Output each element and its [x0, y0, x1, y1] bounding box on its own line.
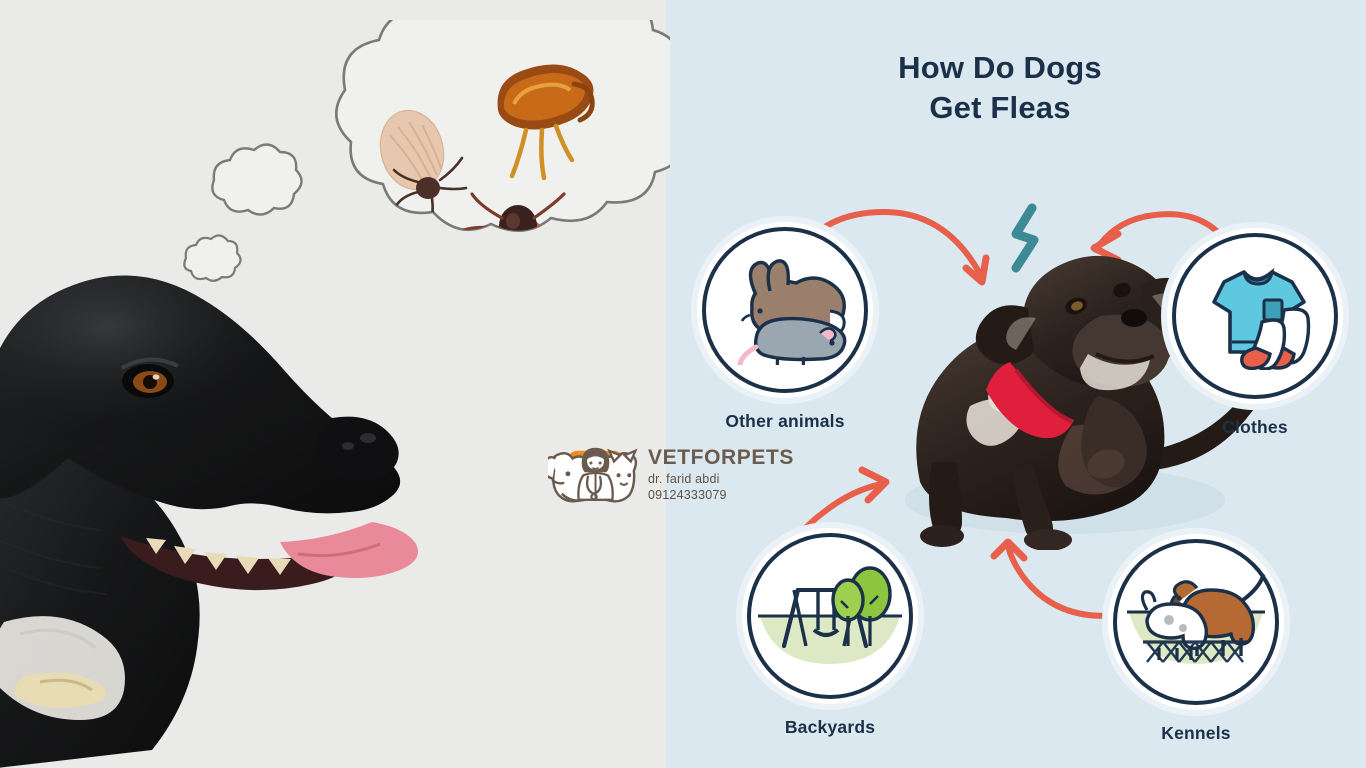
two-dogs-behind-fence-icon [1108, 534, 1284, 710]
vet-dog-cat-icon [548, 440, 640, 506]
node-ring [1167, 228, 1343, 404]
node-ring [1108, 534, 1284, 710]
left-dog-photo [0, 270, 420, 768]
title-line-1: How Do Dogs [820, 48, 1180, 88]
node-ring [697, 222, 873, 398]
title-line-2: Get Fleas [820, 88, 1180, 128]
node-other-animals[interactable]: Other animals [697, 222, 873, 432]
front-leg-left [929, 462, 962, 536]
node-backyards[interactable]: Backyards [742, 528, 918, 738]
vetforpets-logo: VETFORPETS dr. farid abdi 09124333079 [548, 440, 794, 506]
node-label: Backyards [742, 717, 918, 738]
node-kennels[interactable]: Kennels [1108, 534, 1284, 744]
node-label: Other animals [697, 411, 873, 432]
swingset-and-trees-icon [742, 528, 918, 704]
thought-bubble-medium [212, 144, 301, 214]
node-label: Kennels [1108, 723, 1284, 744]
node-label: Clothes [1167, 417, 1343, 438]
node-ring [742, 528, 918, 704]
node-clothes[interactable]: Clothes [1167, 228, 1343, 438]
logo-brand: VETFORPETS [648, 447, 794, 468]
rabbit-and-rat-icon [697, 222, 873, 398]
infographic-canvas: VETFORPETS dr. farid abdi 09124333079 Ho… [0, 0, 1366, 768]
dog-nose [1121, 309, 1147, 327]
logo-phone: 09124333079 [648, 489, 794, 502]
logo-doctor-name: dr. farid abdi [648, 473, 794, 486]
page-title: How Do Dogs Get Fleas [820, 48, 1180, 127]
tshirt-and-socks-icon [1167, 228, 1343, 404]
